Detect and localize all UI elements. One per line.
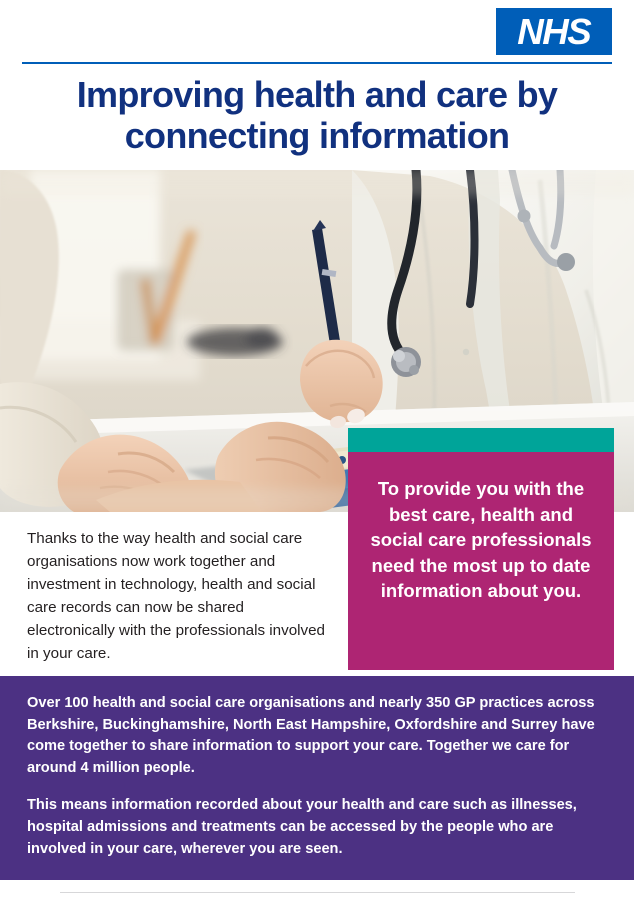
highlight-paragraph-1: Over 100 health and social care organisa… [27,693,607,779]
callout-accent-bar [348,428,614,452]
leaflet-page: NHS Improving health and care by connect… [0,0,634,907]
nhs-logo-text: NHS [518,14,591,50]
callout-box: To provide you with the best care, healt… [348,428,614,670]
highlight-paragraph-2: This means information recorded about yo… [27,795,607,860]
footer-divider [60,892,575,893]
intro-paragraph: Thanks to the way health and social care… [27,527,332,666]
page-header: NHS [0,0,634,68]
page-title-line-1: Improving health and care by [77,74,558,115]
nhs-logo: NHS [496,8,612,55]
page-title-line-2: connecting information [125,115,510,156]
highlight-band: Over 100 health and social care organisa… [0,676,634,880]
page-title-heading: Improving health and care by connecting … [18,74,616,156]
header-divider [22,62,612,64]
callout-text: To provide you with the best care, healt… [348,452,614,670]
page-title: Improving health and care by connecting … [0,74,634,156]
